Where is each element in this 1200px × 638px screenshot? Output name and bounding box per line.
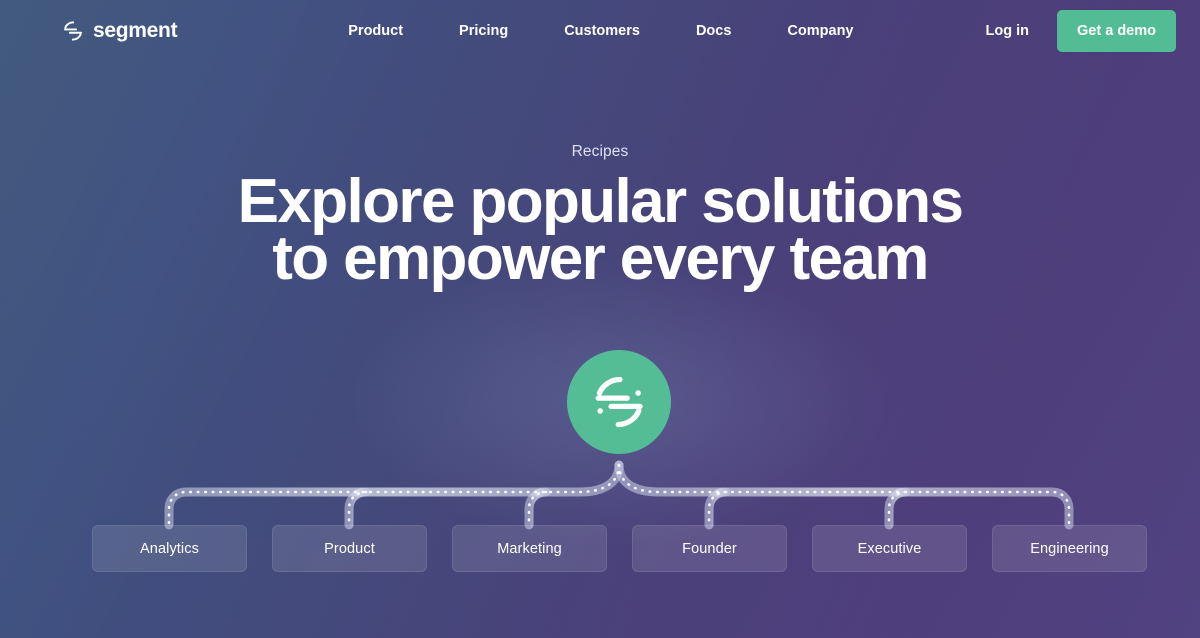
page-root: segment Product Pricing Customers Docs C… bbox=[0, 0, 1200, 638]
card-label: Marketing bbox=[497, 541, 562, 557]
solutions-diagram: Analytics Product Marketing Founder Exec… bbox=[0, 0, 1200, 638]
card-label: Analytics bbox=[140, 541, 199, 557]
segment-logo-icon bbox=[590, 373, 648, 431]
nav-link-docs[interactable]: Docs bbox=[668, 23, 759, 39]
card-label: Founder bbox=[682, 541, 737, 557]
top-navigation-bar: segment Product Pricing Customers Docs C… bbox=[0, 0, 1200, 62]
brand-name: segment bbox=[93, 19, 177, 43]
category-card-product[interactable]: Product bbox=[272, 525, 427, 572]
category-card-analytics[interactable]: Analytics bbox=[92, 525, 247, 572]
nav-actions: Log in Get a demo bbox=[958, 10, 1176, 52]
log-in-link[interactable]: Log in bbox=[958, 23, 1058, 39]
card-label: Executive bbox=[858, 541, 922, 557]
nav-links: Product Pricing Customers Docs Company bbox=[320, 23, 881, 39]
get-a-demo-button[interactable]: Get a demo bbox=[1057, 10, 1176, 52]
card-label: Engineering bbox=[1030, 541, 1109, 557]
segment-logo-icon bbox=[62, 20, 84, 42]
nav-link-product[interactable]: Product bbox=[320, 23, 431, 39]
nav-link-customers[interactable]: Customers bbox=[536, 23, 668, 39]
category-card-engineering[interactable]: Engineering bbox=[992, 525, 1147, 572]
nav-link-company[interactable]: Company bbox=[759, 23, 881, 39]
brand-logo[interactable]: segment bbox=[62, 19, 177, 43]
category-card-executive[interactable]: Executive bbox=[812, 525, 967, 572]
category-card-marketing[interactable]: Marketing bbox=[452, 525, 607, 572]
card-label: Product bbox=[324, 541, 375, 557]
segment-hub-badge[interactable] bbox=[567, 350, 671, 454]
nav-link-pricing[interactable]: Pricing bbox=[431, 23, 536, 39]
category-card-founder[interactable]: Founder bbox=[632, 525, 787, 572]
